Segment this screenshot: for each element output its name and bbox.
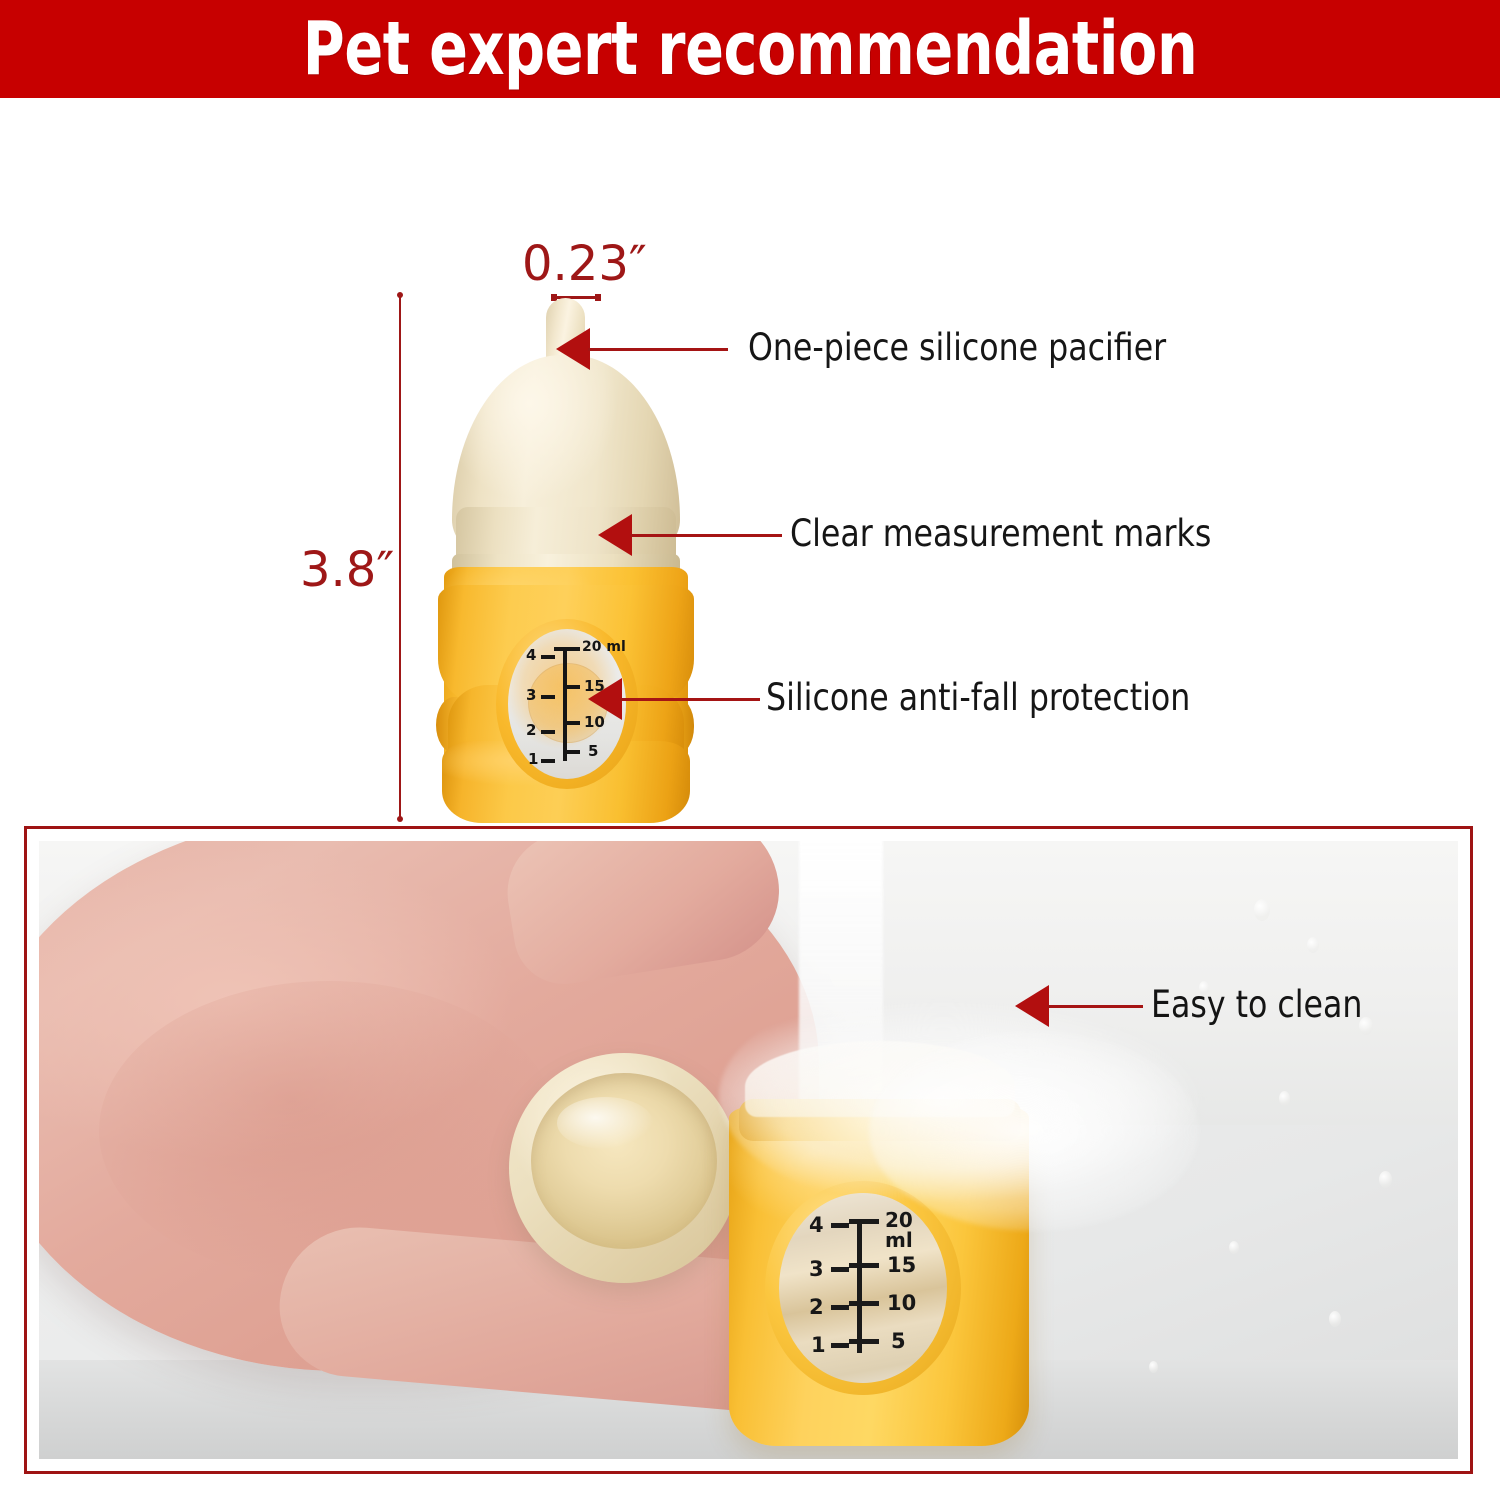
callout-line-antifall	[620, 698, 760, 701]
photo-scale-right-15: 15	[887, 1255, 916, 1276]
photo-tick-4	[831, 1223, 849, 1228]
callout-line-easy-clean	[1047, 1005, 1143, 1008]
callout-label-pacifier: One-piece silicone pacifier	[748, 326, 1166, 369]
photo-scale-right-10: 10	[887, 1293, 916, 1314]
scale-tick-15	[564, 685, 580, 689]
water-droplet	[1329, 1311, 1341, 1327]
callout-line-pacifier	[588, 348, 728, 351]
photo-scale-axis	[857, 1219, 862, 1353]
scale-tick-10	[564, 721, 580, 725]
callout-arrow-pacifier	[556, 328, 590, 370]
pacifier-cap-highlight	[557, 1097, 653, 1149]
scale-left-3: 3	[526, 688, 536, 703]
water-droplet	[1307, 937, 1319, 953]
height-dimension-line	[399, 295, 401, 819]
page-title: Pet expert recommendation	[303, 12, 1197, 86]
photo-scale-left-4: 4	[809, 1215, 824, 1236]
photo-scale-right-5: 5	[891, 1331, 906, 1352]
callout-arrow-easy-clean	[1015, 985, 1049, 1027]
height-dimension-label: 3.8″	[300, 542, 394, 598]
scale-tick-3	[541, 695, 555, 699]
scale-left-2: 2	[526, 723, 536, 738]
water-droplet	[1149, 1361, 1158, 1373]
bottle-illustration: 4 20 ml 3 15 2 10 1 5	[420, 293, 710, 828]
scale-right-20ml: 20 ml	[582, 640, 626, 654]
photo-tick-10	[849, 1301, 879, 1306]
scale-left-4: 4	[526, 648, 536, 663]
photo-scale-left-1: 1	[811, 1335, 826, 1356]
scale-axis	[563, 647, 567, 761]
bottle-photo-scale: 4 20 ml 3 15 2 10 1 5	[779, 1193, 947, 1383]
scale-tick-5	[564, 750, 580, 754]
scale-tick-4	[541, 655, 555, 659]
callout-label-marks: Clear measurement marks	[790, 512, 1211, 555]
callout-label-easy-clean: Easy to clean	[1151, 983, 1362, 1026]
scale-tick-1	[541, 759, 555, 763]
photo-tick-20	[849, 1219, 879, 1224]
water-droplet	[1229, 1241, 1239, 1254]
water-droplet	[1279, 1091, 1290, 1106]
water-droplet	[1379, 1171, 1392, 1188]
photo-scale-left-2: 2	[809, 1297, 824, 1318]
callout-arrow-antifall	[588, 678, 622, 720]
photo-scale-left-3: 3	[809, 1259, 824, 1280]
cleaning-photo: 4 20 ml 3 15 2 10 1 5	[39, 841, 1458, 1459]
callout-label-antifall: Silicone anti-fall protection	[766, 676, 1190, 719]
callout-line-marks	[630, 534, 782, 537]
photo-tick-1	[831, 1343, 849, 1348]
water-droplet	[1254, 899, 1270, 921]
photo-frame: 4 20 ml 3 15 2 10 1 5	[24, 826, 1473, 1474]
scale-tick-2	[541, 730, 555, 734]
callout-arrow-marks	[598, 514, 632, 556]
product-diagram: 3.8″ 0.23″ 2″ 4 20 ml 3 15	[0, 98, 1500, 813]
photo-tick-5	[849, 1339, 879, 1344]
header-banner: Pet expert recommendation	[0, 0, 1500, 98]
scale-tick-20	[554, 647, 580, 651]
photo-tick-2	[831, 1305, 849, 1310]
pacifier-cap-photo	[509, 1053, 739, 1283]
photo-tick-3	[831, 1267, 849, 1272]
scale-left-1: 1	[528, 752, 538, 767]
scale-right-5: 5	[588, 744, 598, 759]
tip-dimension-label: 0.23″	[522, 236, 647, 292]
water-splash-secondary	[869, 1031, 1199, 1231]
photo-tick-15	[849, 1263, 879, 1268]
